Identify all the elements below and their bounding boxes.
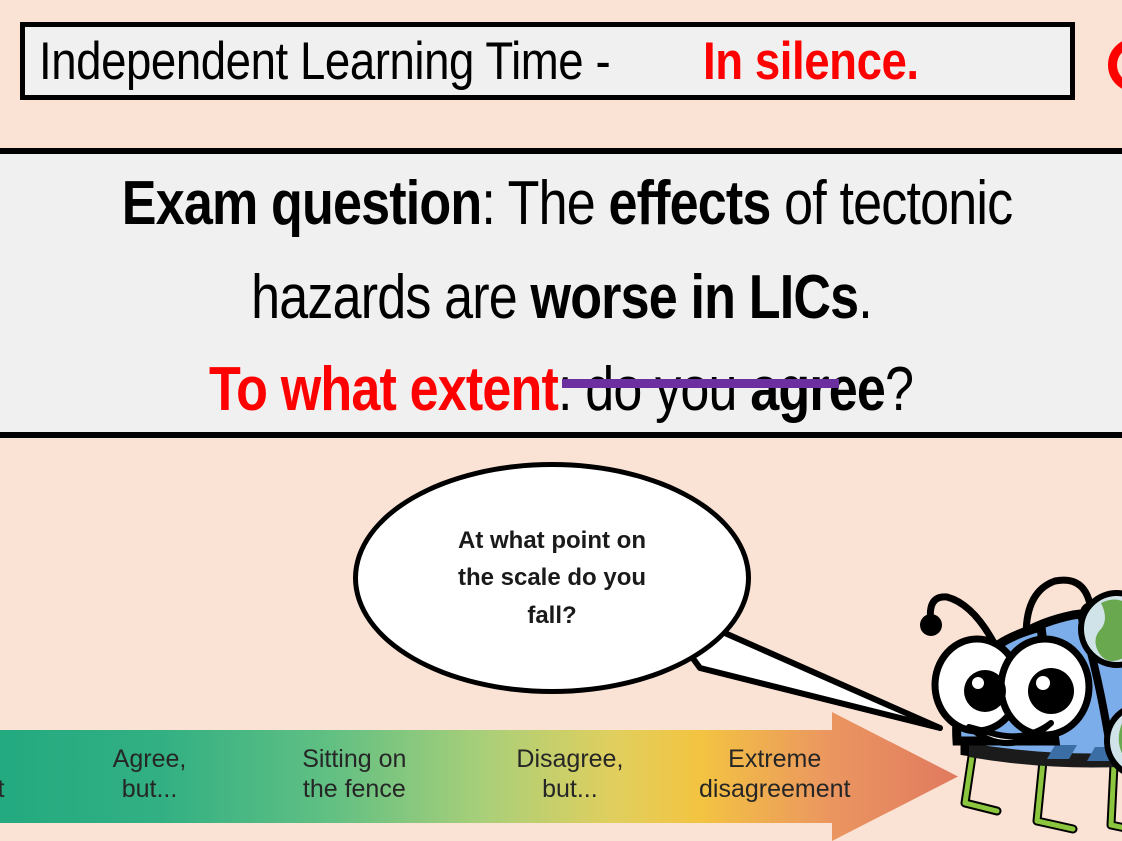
- scale-label: Agree, but...: [113, 744, 187, 804]
- speech-bubble-text: At what point on the scale do you fall?: [418, 522, 686, 634]
- red-circle-icon: [1108, 38, 1122, 92]
- question-line-2: hazards are worse in LICs.: [0, 262, 1122, 333]
- exam-question-panel: Exam question: The effects of tectonic h…: [0, 148, 1122, 438]
- scale-label: Extreme disagreement: [699, 744, 850, 804]
- question-line2-tail: .: [858, 263, 872, 332]
- scale-label: Disagree, but...: [516, 744, 623, 804]
- question-emphasis-effects: effects: [608, 169, 770, 238]
- slide-canvas: Independent Learning Time - In silence. …: [0, 0, 1122, 841]
- underline-effects: [562, 379, 839, 388]
- title-main-text: Independent Learning Time -: [39, 31, 610, 92]
- question-line3-middle: : do you: [558, 355, 750, 424]
- question-line2-lead: hazards are: [251, 263, 530, 332]
- question-emphasis-extent: To what extent: [209, 355, 558, 424]
- question-emphasis-agree: agree: [750, 355, 885, 424]
- speech-bubble: At what point on the scale do you fall?: [353, 462, 751, 694]
- title-banner: Independent Learning Time - In silence.: [20, 22, 1075, 100]
- title-accent-text: In silence.: [703, 31, 919, 92]
- question-line3-tail: ?: [885, 355, 913, 424]
- globe-ladybug-character: [905, 545, 1122, 841]
- question-line-3: To what extent: do you agree?: [0, 354, 1122, 425]
- question-label: Exam question: [122, 169, 482, 238]
- question-line1-after-colon: : The: [481, 169, 608, 238]
- question-line-1: Exam question: The effects of tectonic: [0, 168, 1122, 239]
- scale-label: Extreme agreement: [0, 744, 4, 804]
- scale-label: Sitting on the fence: [302, 744, 406, 804]
- question-emphasis-lics: worse in LICs: [530, 263, 858, 332]
- question-line1-tail: of tectonic: [770, 169, 1012, 238]
